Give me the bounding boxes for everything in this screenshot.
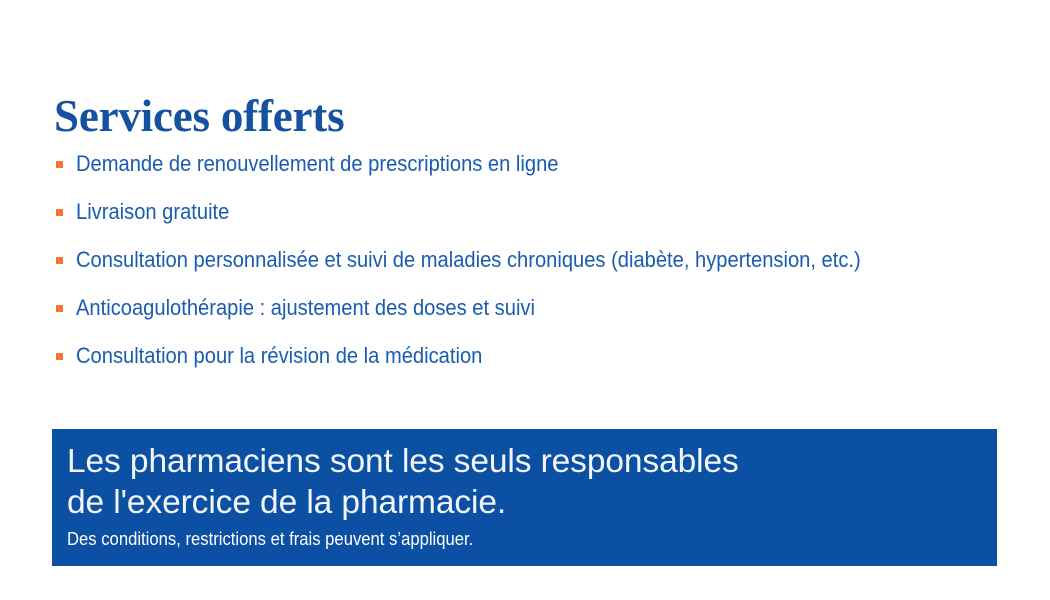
list-item-label: Consultation pour la révision de la médi… (76, 343, 482, 369)
callout-note: Des conditions, restrictions et frais pe… (67, 527, 904, 551)
square-bullet-icon (56, 209, 63, 216)
list-item-label: Consultation personnalisée et suivi de m… (76, 247, 861, 273)
callout-line-1: Les pharmaciens sont les seuls responsab… (67, 441, 997, 482)
square-bullet-icon (56, 353, 63, 360)
square-bullet-icon (56, 161, 63, 168)
list-item: Consultation personnalisée et suivi de m… (54, 236, 1034, 284)
list-item: Livraison gratuite (54, 188, 1034, 236)
page-title: Services offerts (54, 92, 344, 140)
disclaimer-callout-box: Les pharmaciens sont les seuls responsab… (52, 429, 997, 566)
list-item-label: Anticoagulothérapie : ajustement des dos… (76, 295, 535, 321)
slide-canvas: Services offerts Demande de renouvelleme… (0, 0, 1050, 600)
callout-line-2: de l'exercice de la pharmacie. (67, 482, 997, 523)
list-item-label: Livraison gratuite (76, 199, 229, 225)
list-item: Demande de renouvellement de prescriptio… (54, 140, 1034, 188)
list-item: Consultation pour la révision de la médi… (54, 332, 1034, 380)
list-item: Anticoagulothérapie : ajustement des dos… (54, 284, 1034, 332)
square-bullet-icon (56, 257, 63, 264)
list-item-label: Demande de renouvellement de prescriptio… (76, 151, 558, 177)
services-bullet-list: Demande de renouvellement de prescriptio… (54, 140, 1034, 380)
square-bullet-icon (56, 305, 63, 312)
